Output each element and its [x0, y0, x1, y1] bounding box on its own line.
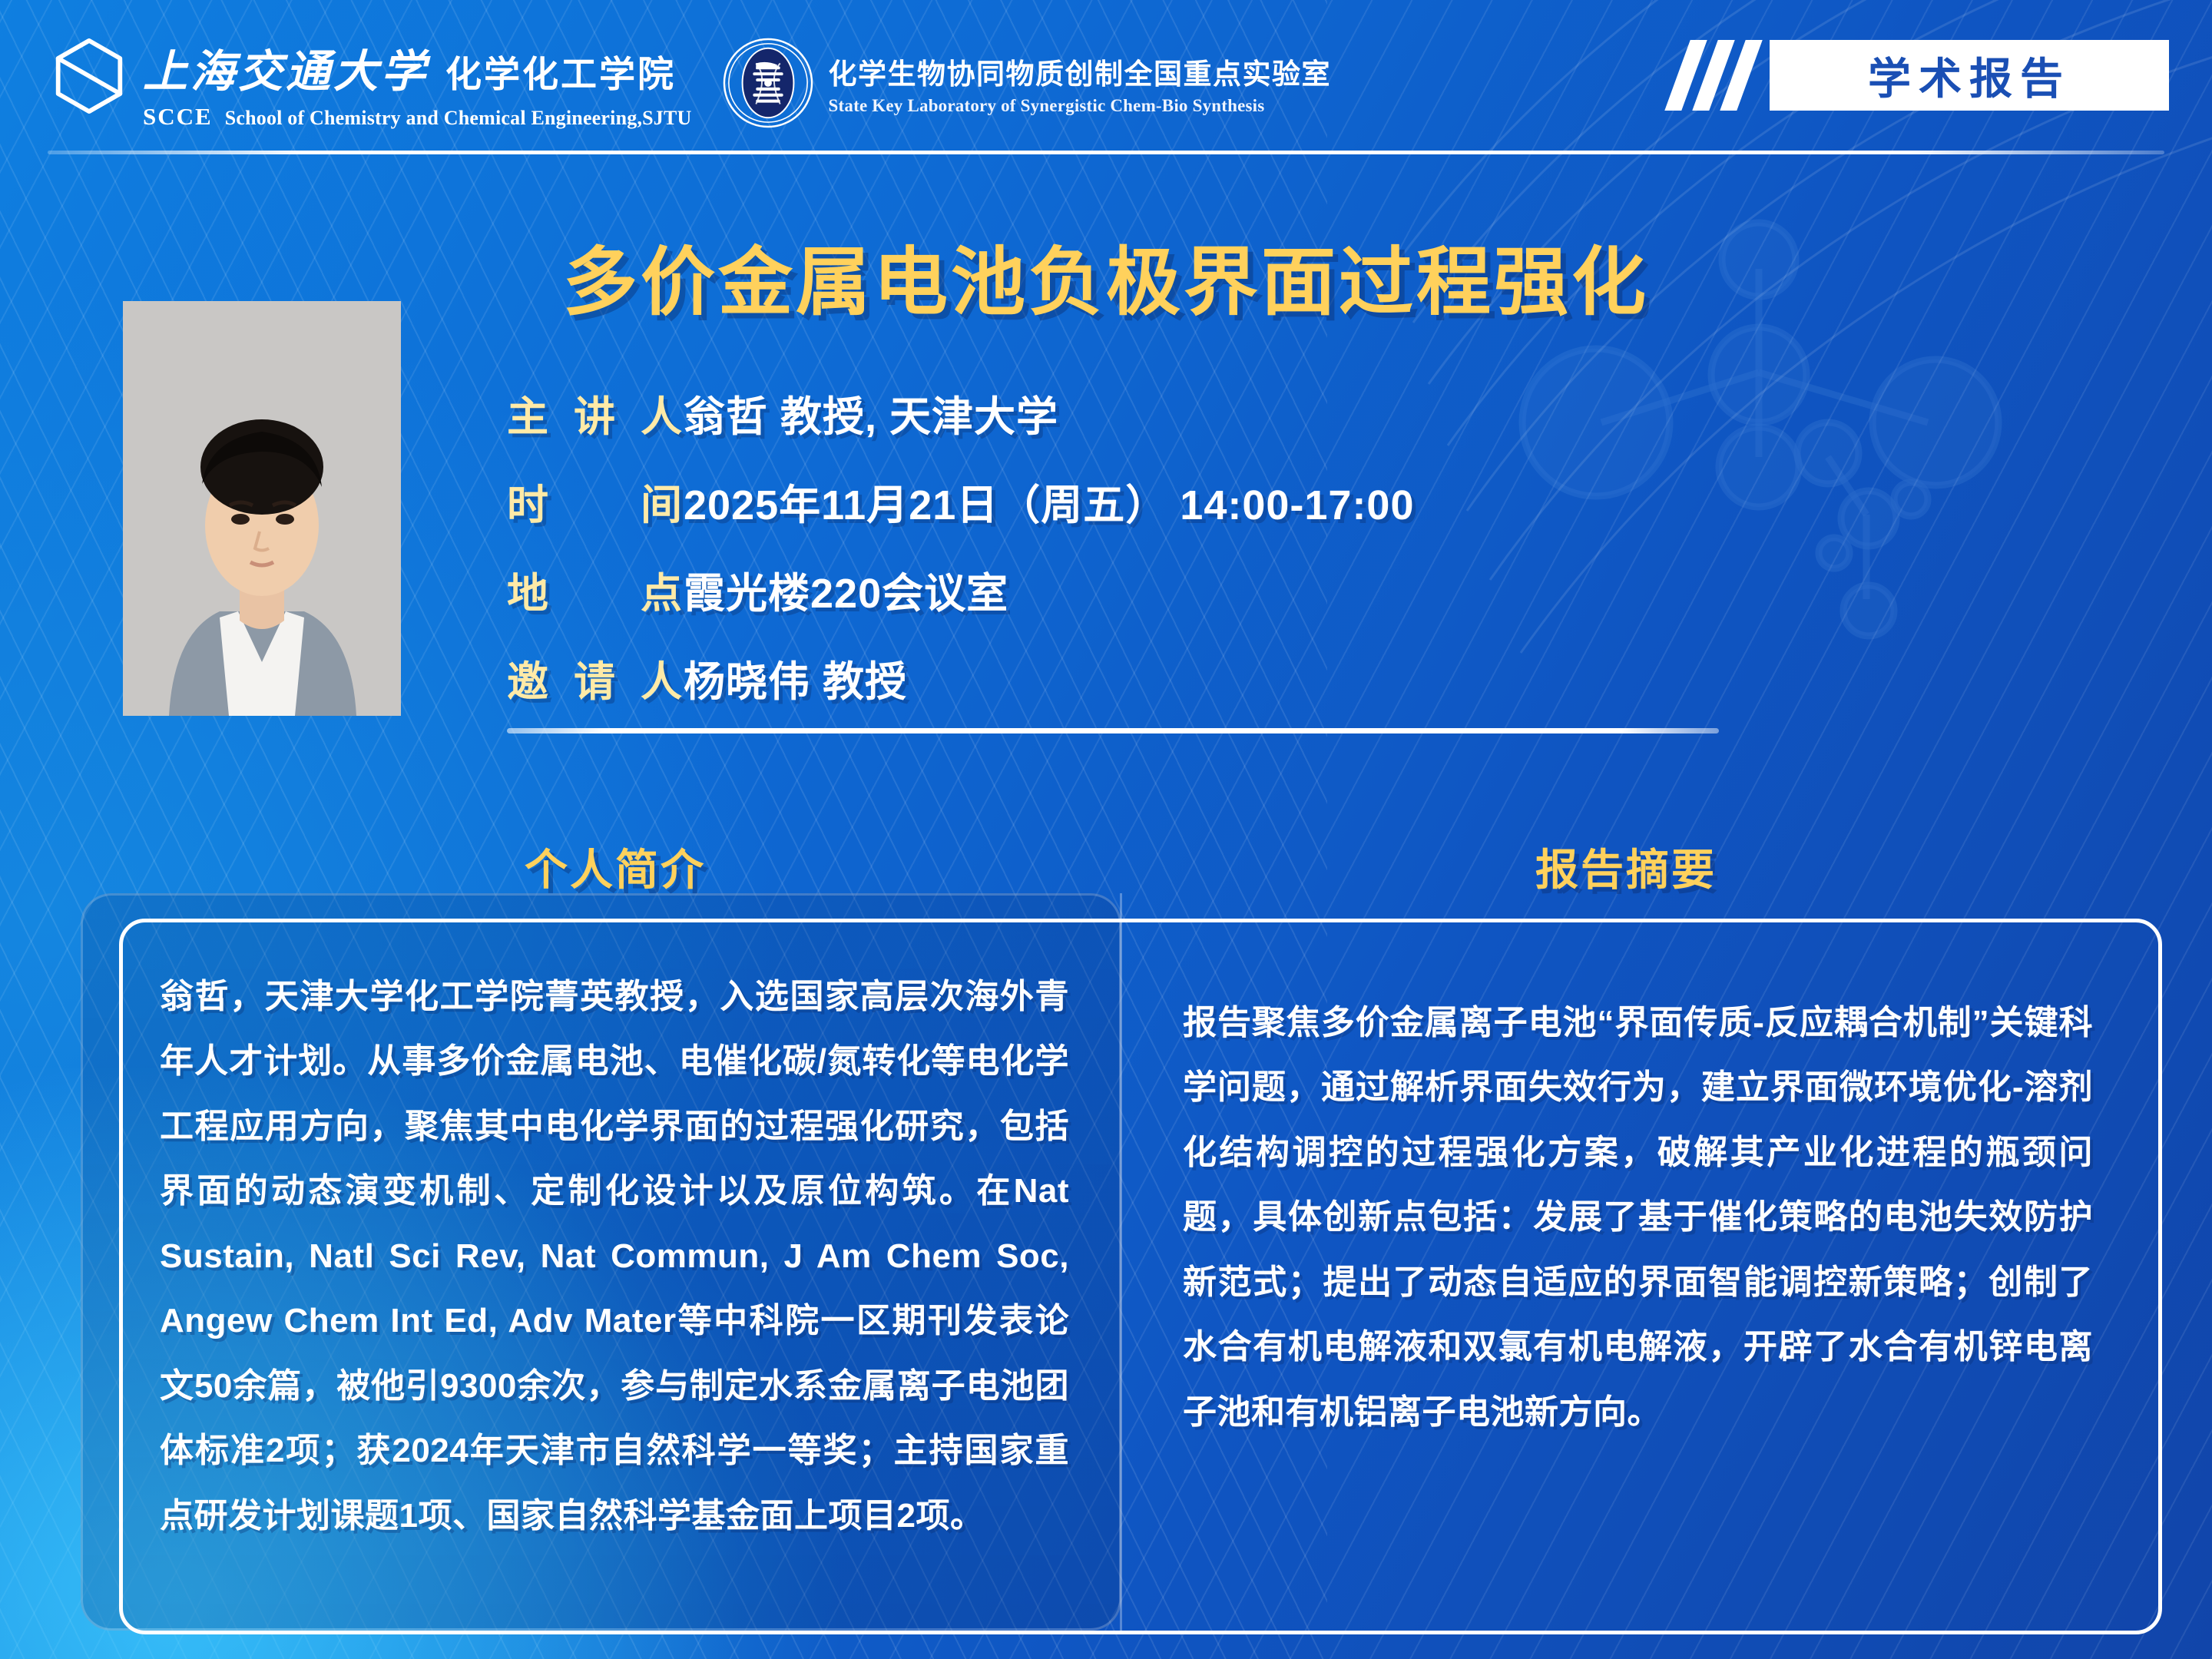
academic-report-badge: 学术报告	[1770, 40, 2169, 111]
academic-report-badge-group: 学术报告	[1677, 40, 2169, 111]
info-value-host: 杨晓伟 教授	[684, 647, 907, 708]
info-value-time: 2025年11月21日（周五） 14:00-17:00	[684, 471, 1415, 531]
info-value-speaker: 翁哲 教授, 天津大学	[684, 382, 1058, 443]
lab-circular-seal-icon	[723, 38, 813, 128]
info-label-time: 时间	[507, 471, 684, 531]
sjtu-department-name-cn: 化学化工学院	[445, 45, 676, 98]
bio-section-heading: 个人简介	[525, 836, 706, 898]
poster-header: 上海交通大学 化学化工学院 SCCE School of Chemistry a…	[0, 0, 2212, 161]
abstract-paragraph: 报告聚焦多价金属离子电池“界面传质-反应耦合机制”关键科学问题，通过解析界面失效…	[1183, 991, 2093, 1445]
info-row-speaker: 主讲人 翁哲 教授, 天津大学	[507, 382, 1767, 443]
info-label-speaker: 主讲人	[507, 382, 684, 443]
academic-report-badge-label: 学术报告	[1868, 45, 2071, 107]
sjtu-abbreviation-en: SCCE	[143, 103, 213, 131]
info-row-venue: 地点 霞光楼220会议室	[507, 559, 1767, 620]
poster-title-text: 多价金属电池负极界面过程强化	[563, 240, 1649, 324]
lab-name-cn: 化学生物协同物质创制全国重点实验室	[829, 51, 1332, 92]
header-logos: 上海交通大学 化学化工学院 SCCE School of Chemistry a…	[52, 35, 1331, 131]
info-label-host: 邀请人	[507, 647, 684, 708]
speaker-photo	[123, 301, 401, 716]
info-value-venue: 霞光楼220会议室	[684, 559, 1008, 620]
sjtu-hexagon-logo-icon	[52, 37, 126, 115]
lab-logo-block: 化学生物协同物质创制全国重点实验室 State Key Laboratory o…	[723, 38, 1332, 128]
info-divider	[507, 728, 1719, 733]
lab-text-block: 化学生物协同物质创制全国重点实验室 State Key Laboratory o…	[829, 51, 1332, 116]
header-divider	[48, 151, 2164, 154]
info-row-time: 时间 2025年11月21日（周五） 14:00-17:00	[507, 471, 1767, 531]
poster-canvas: 上海交通大学 化学化工学院 SCCE School of Chemistry a…	[0, 0, 2212, 1659]
bio-paragraph: 翁哲，天津大学化工学院菁英教授，入选国家高层次海外青年人才计划。从事多价金属电池…	[160, 965, 1069, 1548]
event-info-block: 主讲人 翁哲 教授, 天津大学 时间 2025年11月21日（周五） 14:00…	[507, 382, 1767, 736]
sjtu-logo-block: 上海交通大学 化学化工学院 SCCE School of Chemistry a…	[52, 35, 692, 131]
info-row-host: 邀请人 杨晓伟 教授	[507, 647, 1767, 708]
sjtu-university-name-cn: 上海交通大学	[143, 35, 429, 100]
lab-name-en: State Key Laboratory of Synergistic Chem…	[829, 96, 1332, 116]
abstract-section-heading: 报告摘要	[1535, 836, 1717, 898]
sjtu-full-name-en: School of Chemistry and Chemical Enginee…	[225, 107, 692, 130]
sjtu-text-block: 上海交通大学 化学化工学院 SCCE School of Chemistry a…	[143, 35, 692, 131]
column-divider	[1120, 893, 1122, 1631]
info-label-venue: 地点	[507, 559, 684, 620]
portrait-photo-icon	[123, 301, 401, 716]
